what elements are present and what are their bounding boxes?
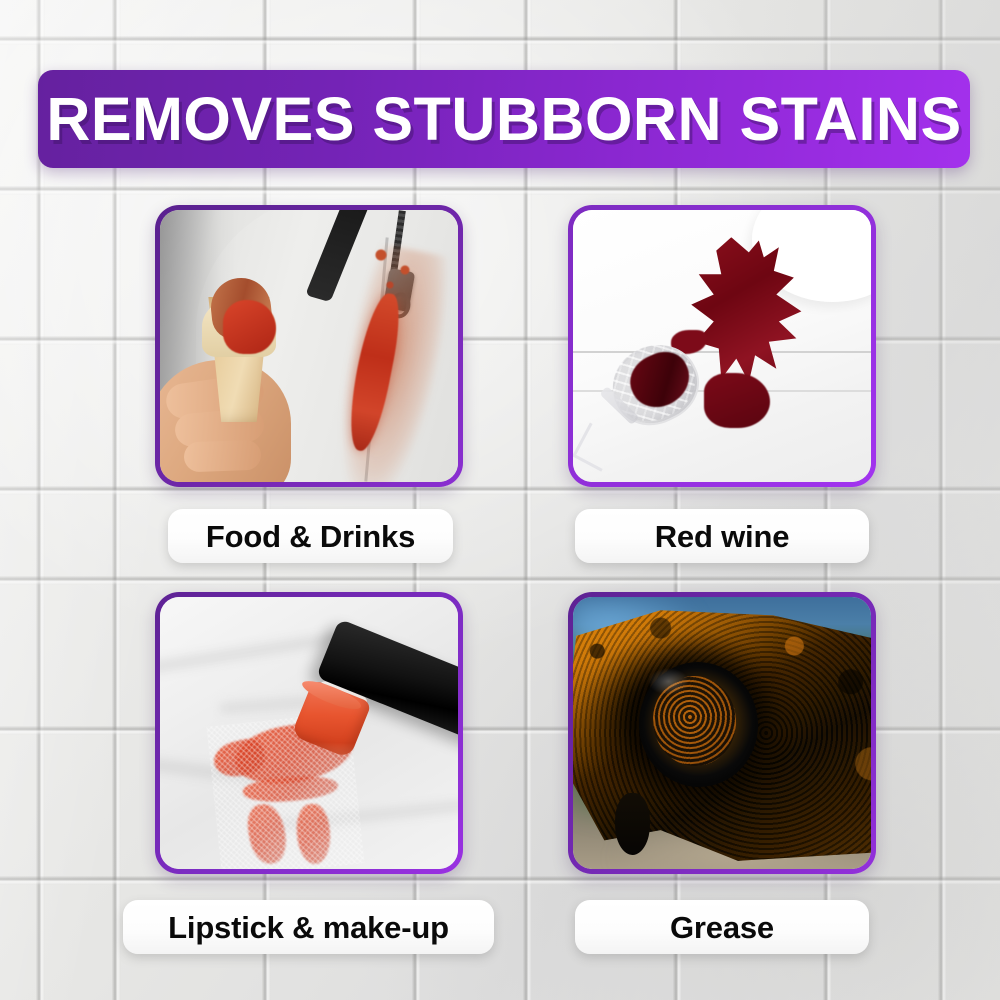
stain-photo-red-wine: [573, 210, 871, 482]
photo-backdrop: [573, 597, 871, 869]
stain-card-grease[interactable]: [568, 592, 876, 874]
headline-text: REMOVES STUBBORN STAINS: [46, 89, 961, 150]
headline-banner: REMOVES STUBBORN STAINS: [38, 70, 970, 168]
label-pill-red-wine: Red wine: [575, 509, 869, 563]
finger: [183, 440, 261, 473]
stain-card-lipstick-makeup[interactable]: [155, 592, 463, 874]
label-text: Red wine: [655, 521, 789, 552]
label-text: Lipstick & make-up: [168, 912, 449, 943]
label-text: Grease: [670, 912, 774, 943]
grout-line-horizontal: [0, 186, 1000, 195]
ketchup-blob: [223, 300, 277, 354]
grout-line-horizontal: [0, 576, 1000, 585]
ketchup-droplets: [369, 237, 429, 297]
lipstick-streak: [245, 801, 290, 866]
grout-line-horizontal: [0, 486, 1000, 495]
grout-line-horizontal: [0, 876, 1000, 885]
stain-card-red-wine[interactable]: [568, 205, 876, 487]
label-pill-food-drinks: Food & Drinks: [168, 509, 453, 563]
wine-drip: [704, 373, 770, 427]
label-pill-lipstick-makeup: Lipstick & make-up: [123, 900, 494, 954]
grease-highlight: [648, 668, 690, 695]
lipstick-streak: [295, 803, 332, 865]
stain-card-food-drinks[interactable]: [155, 205, 463, 487]
stain-photo-food-drinks: [160, 210, 458, 482]
label-pill-grease: Grease: [575, 900, 869, 954]
photo-backdrop: [160, 597, 458, 869]
stain-removal-poster: REMOVES STUBBORN STAINS: [0, 0, 1000, 1000]
stain-photo-grease: [573, 597, 871, 869]
grout-line-horizontal: [0, 36, 1000, 45]
wine-glass-foot: [573, 422, 619, 471]
label-text: Food & Drinks: [206, 521, 415, 552]
stain-photo-lipstick-makeup: [160, 597, 458, 869]
photo-backdrop: [573, 210, 871, 482]
photo-backdrop: [160, 210, 458, 482]
